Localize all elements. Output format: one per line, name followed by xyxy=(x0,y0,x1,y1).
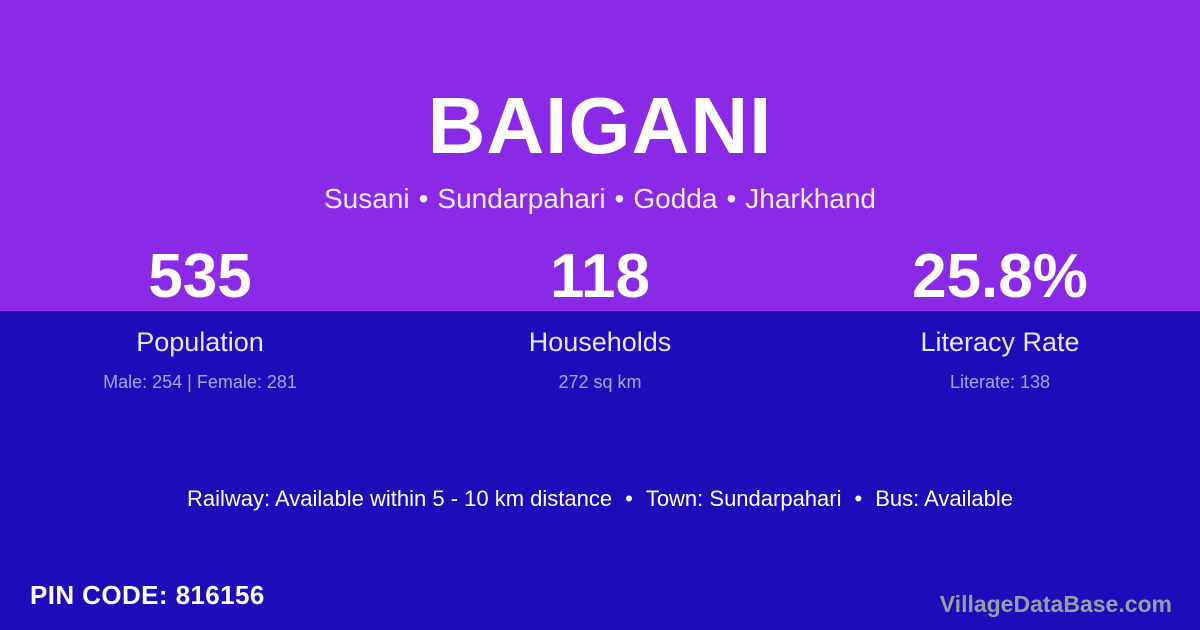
village-info-card: BAIGANI Susani•Sundarpahari•Godda•Jharkh… xyxy=(0,0,1200,630)
breadcrumb-separator: • xyxy=(410,182,438,216)
stats-row: 535PopulationMale: 254 | Female: 281118H… xyxy=(0,246,1200,391)
breadcrumb: Susani•Sundarpahari•Godda•Jharkhand xyxy=(0,182,1200,216)
amenity-separator: • xyxy=(842,486,876,512)
breadcrumb-item[interactable]: Godda xyxy=(633,183,717,214)
amenity-item: Bus: Available xyxy=(875,486,1013,511)
amenity-item: Town: Sundarpahari xyxy=(646,486,842,511)
stat-sublabel: 272 sq km xyxy=(400,373,800,391)
stat-value: 25.8% xyxy=(800,246,1200,310)
pin-code: PIN CODE: 816156 xyxy=(30,582,265,608)
breadcrumb-item[interactable]: Jharkhand xyxy=(745,183,876,214)
stat-label: Literacy Rate xyxy=(800,329,1200,356)
breadcrumb-separator: • xyxy=(717,182,745,216)
stat-sublabel: Literate: 138 xyxy=(800,373,1200,391)
stat-value: 535 xyxy=(0,246,400,310)
stat-label: Households xyxy=(400,329,800,356)
stat-block: 118Households272 sq km xyxy=(400,246,800,391)
breadcrumb-item[interactable]: Susani xyxy=(324,183,410,214)
brand-watermark: VillageDataBase.com xyxy=(940,593,1172,616)
stat-sublabel: Male: 254 | Female: 281 xyxy=(0,373,400,391)
stat-label: Population xyxy=(0,329,400,356)
page-title: BAIGANI xyxy=(0,86,1200,166)
amenities-line: Railway: Available within 5 - 10 km dist… xyxy=(0,486,1200,512)
breadcrumb-separator: • xyxy=(606,182,634,216)
stat-value: 118 xyxy=(400,246,800,310)
stat-block: 535PopulationMale: 254 | Female: 281 xyxy=(0,246,400,391)
amenity-separator: • xyxy=(612,486,646,512)
footer: PIN CODE: 816156 VillageDataBase.com xyxy=(0,568,1200,630)
stat-block: 25.8%Literacy RateLiterate: 138 xyxy=(800,246,1200,391)
breadcrumb-item[interactable]: Sundarpahari xyxy=(437,183,605,214)
amenity-item: Railway: Available within 5 - 10 km dist… xyxy=(187,486,612,511)
